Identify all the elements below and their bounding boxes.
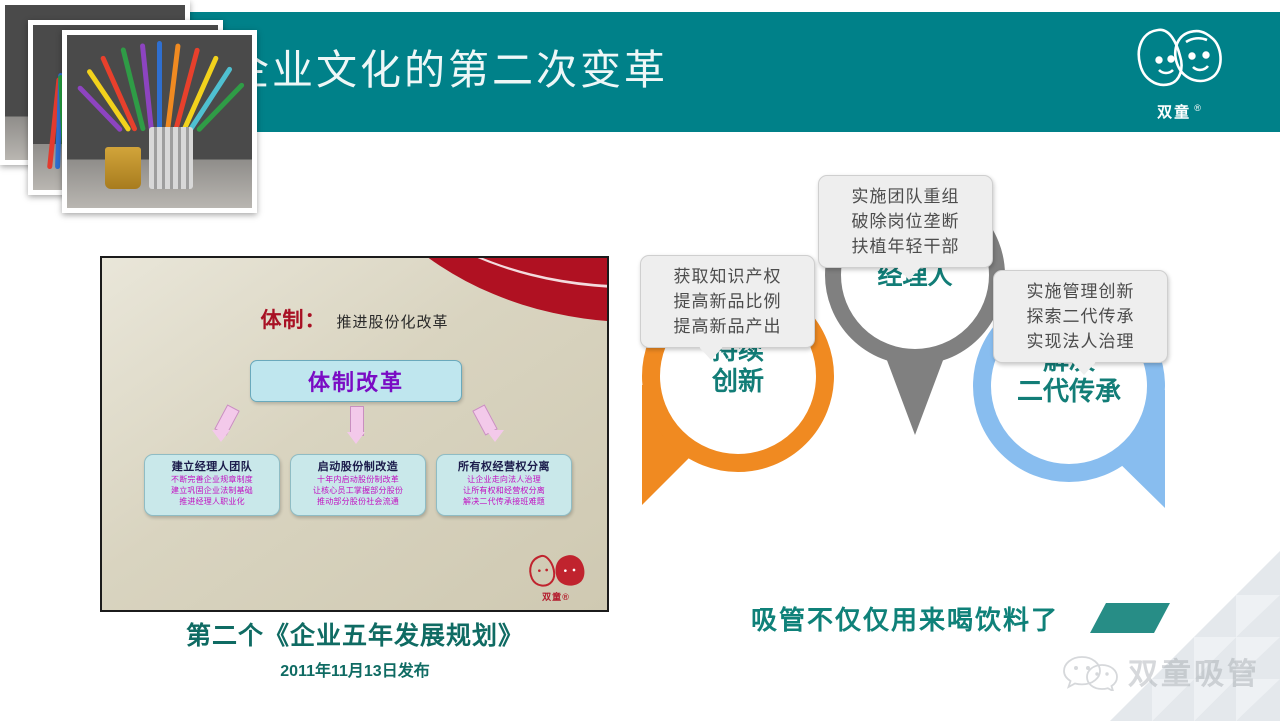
watermark-text: 双童吸管 [1128, 649, 1260, 693]
callout-center: 实施团队重组 破除岗位垄断 扶植年轻干部 [818, 175, 993, 268]
callout-left-line-2: 提高新品比例 [653, 289, 802, 314]
callout-right-line-2: 探索二代传承 [1006, 304, 1155, 329]
column-box-1-line-1: 不断完善企业规章制度 [145, 474, 279, 485]
column-box-2: 启动股份制改造 十年内启动股份制改革 让核心员工掌握部分股份 推动部分股份社会流… [290, 454, 426, 516]
column-box-3-line-3: 解决二代传承接班难题 [437, 496, 571, 507]
wechat-icon [1062, 651, 1118, 691]
pin-infographic: 再造 经理人 持续 创新 解决 二代传承 获取知识产权 提高新品比例 提高新品产… [620, 165, 1190, 605]
column-box-2-line-1: 十年内启动股份制改革 [291, 474, 425, 485]
slide-logo-label: 双童® [519, 590, 593, 603]
shuangtong-logo-icon [1128, 20, 1232, 102]
column-box-1: 建立经理人团队 不断完善企业规章制度 建立巩固企业法制基础 推进经理人职业化 [144, 454, 280, 516]
embedded-slide: 体制：推进股份化改革 体制改革 建立经理人团队 不断完善企业规章制度 建立巩固企… [100, 256, 609, 612]
left-caption: 第二个《企业五年发展规划》 2011年11月13日发布 [100, 616, 610, 681]
reform-box-label: 体制改革 [308, 365, 404, 397]
left-caption-sub: 2011年11月13日发布 [100, 657, 610, 681]
photo-front [62, 30, 257, 213]
pin-right-label-line-2: 二代传承 [973, 376, 1165, 407]
column-box-2-title: 启动股份制改造 [291, 458, 425, 474]
left-caption-main: 第二个《企业五年发展规划》 [100, 616, 610, 652]
callout-center-line-2: 破除岗位垄断 [831, 209, 980, 234]
callout-left-line-1: 获取知识产权 [653, 264, 802, 289]
corner-pattern-icon [1110, 541, 1280, 721]
column-box-2-line-3: 推动部分股份社会流通 [291, 496, 425, 507]
column-box-3: 所有权经营权分离 让企业走向法人治理 让所有权和经营权分离 解决二代传承接班难题 [436, 454, 572, 516]
column-box-2-line-2: 让核心员工掌握部分股份 [291, 485, 425, 496]
shuangtong-logo-label: 双童® [1128, 101, 1232, 122]
callout-center-line-1: 实施团队重组 [831, 184, 980, 209]
pin-left-label-line-2: 创新 [642, 366, 834, 397]
column-box-1-title: 建立经理人团队 [145, 458, 279, 474]
slide-shuangtong-logo-icon [519, 552, 593, 592]
column-box-1-line-3: 推进经理人职业化 [145, 496, 279, 507]
column-box-3-line-1: 让企业走向法人治理 [437, 474, 571, 485]
column-box-3-title: 所有权经营权分离 [437, 458, 571, 474]
callout-left-line-3: 提高新品产出 [653, 314, 802, 339]
slide-heading-key: 体制： [260, 309, 326, 332]
callout-center-line-3: 扶植年轻干部 [831, 234, 980, 259]
callout-right-line-1: 实施管理创新 [1006, 279, 1155, 304]
slide-heading: 体制：推进股份化改革 [102, 304, 607, 334]
slide-heading-value: 推进股份化改革 [336, 314, 448, 331]
corner-triangle-pattern [1110, 541, 1280, 721]
callout-right-line-3: 实现法人治理 [1006, 329, 1155, 354]
column-box-3-line-2: 让所有权和经营权分离 [437, 485, 571, 496]
watermark: 双童吸管 [1062, 649, 1260, 693]
callout-right: 实施管理创新 探索二代传承 实现法人治理 [993, 270, 1168, 363]
column-box-1-line-2: 建立巩固企业法制基础 [145, 485, 279, 496]
reform-box: 体制改革 [250, 360, 462, 402]
slide-shuangtong-logo: 双童® [519, 552, 593, 602]
callout-left: 获取知识产权 提高新品比例 提高新品产出 [640, 255, 815, 348]
shuangtong-logo: 双童® [1128, 20, 1232, 120]
